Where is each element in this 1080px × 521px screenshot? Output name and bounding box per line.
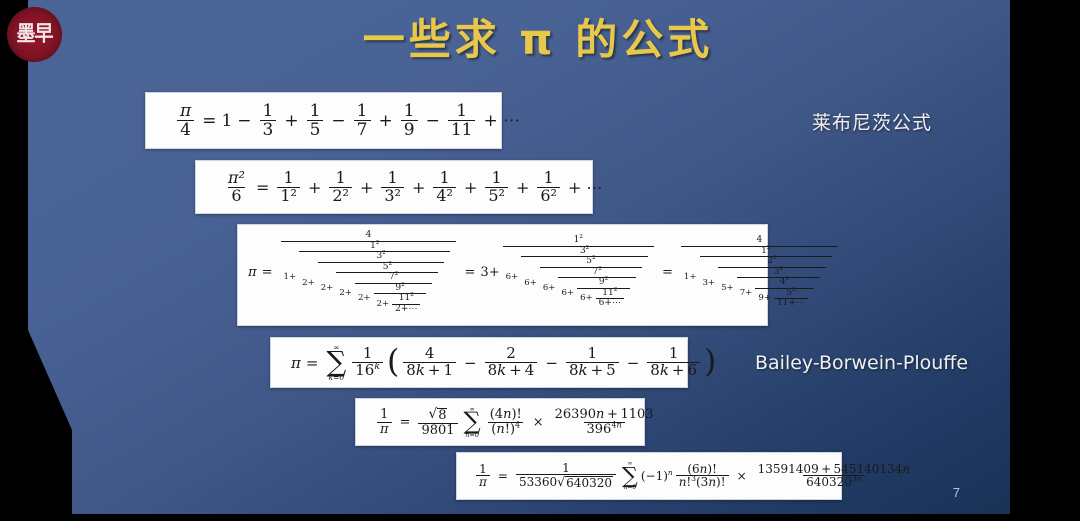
leibniz-term-1: 1 (221, 111, 232, 131)
ramanujan-lhs: 1 π (377, 408, 392, 437)
chudnovsky-factorial-ratio: (6n)! n!3(3n)! (676, 463, 729, 489)
ramanujan-times: × (533, 415, 544, 430)
presentation-slide: 一些求 π 的公式 π 4 = 1 − 13 + 15 − 17 + 19 − … (28, 0, 1010, 514)
basel-term-3: 13² (381, 170, 404, 205)
formula-card-continued-fractions: π = 4 1+ 12 2+ 32 (237, 224, 768, 326)
ramanujan-summation: ∞ ∑ n=0 (464, 406, 481, 439)
label-leibniz: 莱布尼茨公式 (812, 108, 932, 135)
label-bbp: Bailey-Borwein-Plouffe (755, 352, 968, 374)
bbp-sign-3: − (627, 354, 640, 372)
chudnovsky-coefficient: 1 53360√640320 (516, 462, 616, 490)
chudnovsky-alternating-sign: (−1)n (641, 469, 673, 483)
fraction-pi2-over-6: π² 6 (225, 170, 248, 205)
leibniz-tail: + ⋯ (483, 111, 520, 131)
page-title: 一些求 π 的公式 (228, 6, 848, 67)
logo-glyphs: 墨早 (16, 24, 52, 45)
leibniz-sign-2: + (284, 111, 298, 131)
bbp-close-paren: ) (704, 351, 716, 373)
continued-fraction-1: 4 1+ 12 2+ 32 2+ (281, 231, 457, 314)
formula-basel-body: π² 6 = 11² + 12² + 13² + 14² + 15² + 16²… (222, 170, 607, 205)
bbp-sum-lower: k=0 (329, 374, 345, 382)
bbp-lhs: π (291, 354, 301, 372)
leibniz-term-4: 17 (354, 102, 371, 139)
leibniz-sign-4: + (379, 111, 393, 131)
bbp-sign-2: − (545, 354, 558, 372)
bbp-prefactor: 1 16k (352, 346, 383, 379)
formula-bbp-body: π = ∞ ∑ k=0 1 16k ( 4 8k + 1 − 2 (291, 344, 717, 382)
leibniz-sign-1: − (237, 111, 251, 131)
leibniz-equals: = (202, 111, 216, 131)
leibniz-term-6: 111 (448, 102, 476, 139)
formula-ramanujan-body: 1 π = √8 9801 ∞ ∑ n=0 (4n)! (n!)4 × (374, 406, 660, 439)
bbp-term-4: 1 8k + 6 (647, 346, 700, 379)
cf-lhs: π (248, 265, 257, 280)
brand-logo: 墨早 (7, 7, 62, 62)
basel-term-5: 15² (485, 170, 508, 205)
bbp-open-paren: ( (387, 351, 399, 373)
screenshot-root: 一些求 π 的公式 π 4 = 1 − 13 + 15 − 17 + 19 − … (0, 0, 1080, 521)
bbp-term-3: 1 8k + 5 (566, 346, 619, 379)
basel-term-6: 16² (537, 170, 560, 205)
right-letterbox-mask (1012, 0, 1080, 521)
formula-card-leibniz: π 4 = 1 − 13 + 15 − 17 + 19 − 111 + ⋯ (145, 92, 502, 149)
basel-lhs-den: 6 (228, 187, 244, 205)
fraction-pi-over-4: π 4 (177, 102, 194, 139)
leibniz-term-2: 13 (260, 102, 277, 139)
basel-term-1: 11² (277, 170, 300, 205)
ramanujan-coefficient: √8 9801 (418, 407, 457, 438)
leibniz-lhs-den: 4 (177, 120, 194, 139)
chudnovsky-summation: ∞ ∑ n=0 (622, 461, 638, 491)
bottom-letterbox-mask (0, 514, 1080, 521)
formula-card-chudnovsky: 1 π = 1 53360√640320 ∞ ∑ n=0 (−1)n (6n)!… (456, 452, 842, 500)
ramanujan-factorial-ratio: (4n)! (n!)4 (487, 408, 525, 437)
formula-cf-body: π = 4 1+ 12 2+ 32 (248, 231, 841, 314)
basel-term-2: 12² (329, 170, 352, 205)
basel-term-4: 14² (433, 170, 456, 205)
continued-fraction-3: 4 1+ 12 3+ 22 5+ (681, 236, 838, 309)
bbp-term-1: 4 8k + 1 (403, 346, 456, 379)
basel-tail: + ⋯ (568, 178, 603, 197)
bbp-equals: = (306, 354, 319, 372)
basel-lhs-num: π² (225, 170, 248, 187)
formula-card-ramanujan: 1 π = √8 9801 ∞ ∑ n=0 (4n)! (n!)4 × (355, 398, 645, 446)
bbp-term-2: 2 8k + 4 (485, 346, 538, 379)
chudnovsky-lhs: 1 π (476, 463, 490, 489)
formula-leibniz-body: π 4 = 1 − 13 + 15 − 17 + 19 − 111 + ⋯ (174, 102, 525, 139)
bbp-summation: ∞ ∑ k=0 (326, 344, 346, 382)
bbp-sign-1: − (464, 354, 477, 372)
ramanujan-equals: = (400, 415, 411, 430)
leibniz-sign-5: − (426, 111, 440, 131)
formula-chudnovsky-body: 1 π = 1 53360√640320 ∞ ∑ n=0 (−1)n (6n)!… (473, 461, 916, 491)
chudnovsky-right-fraction: 13591409 + 545140134n 6403203n (755, 463, 913, 489)
chudnovsky-equals: = (498, 469, 508, 483)
page-number: 7 (953, 485, 960, 500)
formula-card-basel: π² 6 = 11² + 12² + 13² + 14² + 15² + 16²… (195, 160, 593, 214)
leibniz-term-5: 19 (401, 102, 418, 139)
chudnovsky-times: × (737, 469, 747, 483)
leibniz-lhs-num: π (177, 102, 194, 120)
leibniz-term-3: 15 (307, 102, 324, 139)
formula-card-bbp: π = ∞ ∑ k=0 1 16k ( 4 8k + 1 − 2 (270, 337, 688, 388)
continued-fraction-2: 3+ 12 6+ 32 6+ 52 (480, 236, 657, 309)
ramanujan-right-fraction: 26390n + 1103 3964n (552, 408, 657, 437)
leibniz-sign-3: − (331, 111, 345, 131)
basel-equals: = (256, 178, 269, 197)
